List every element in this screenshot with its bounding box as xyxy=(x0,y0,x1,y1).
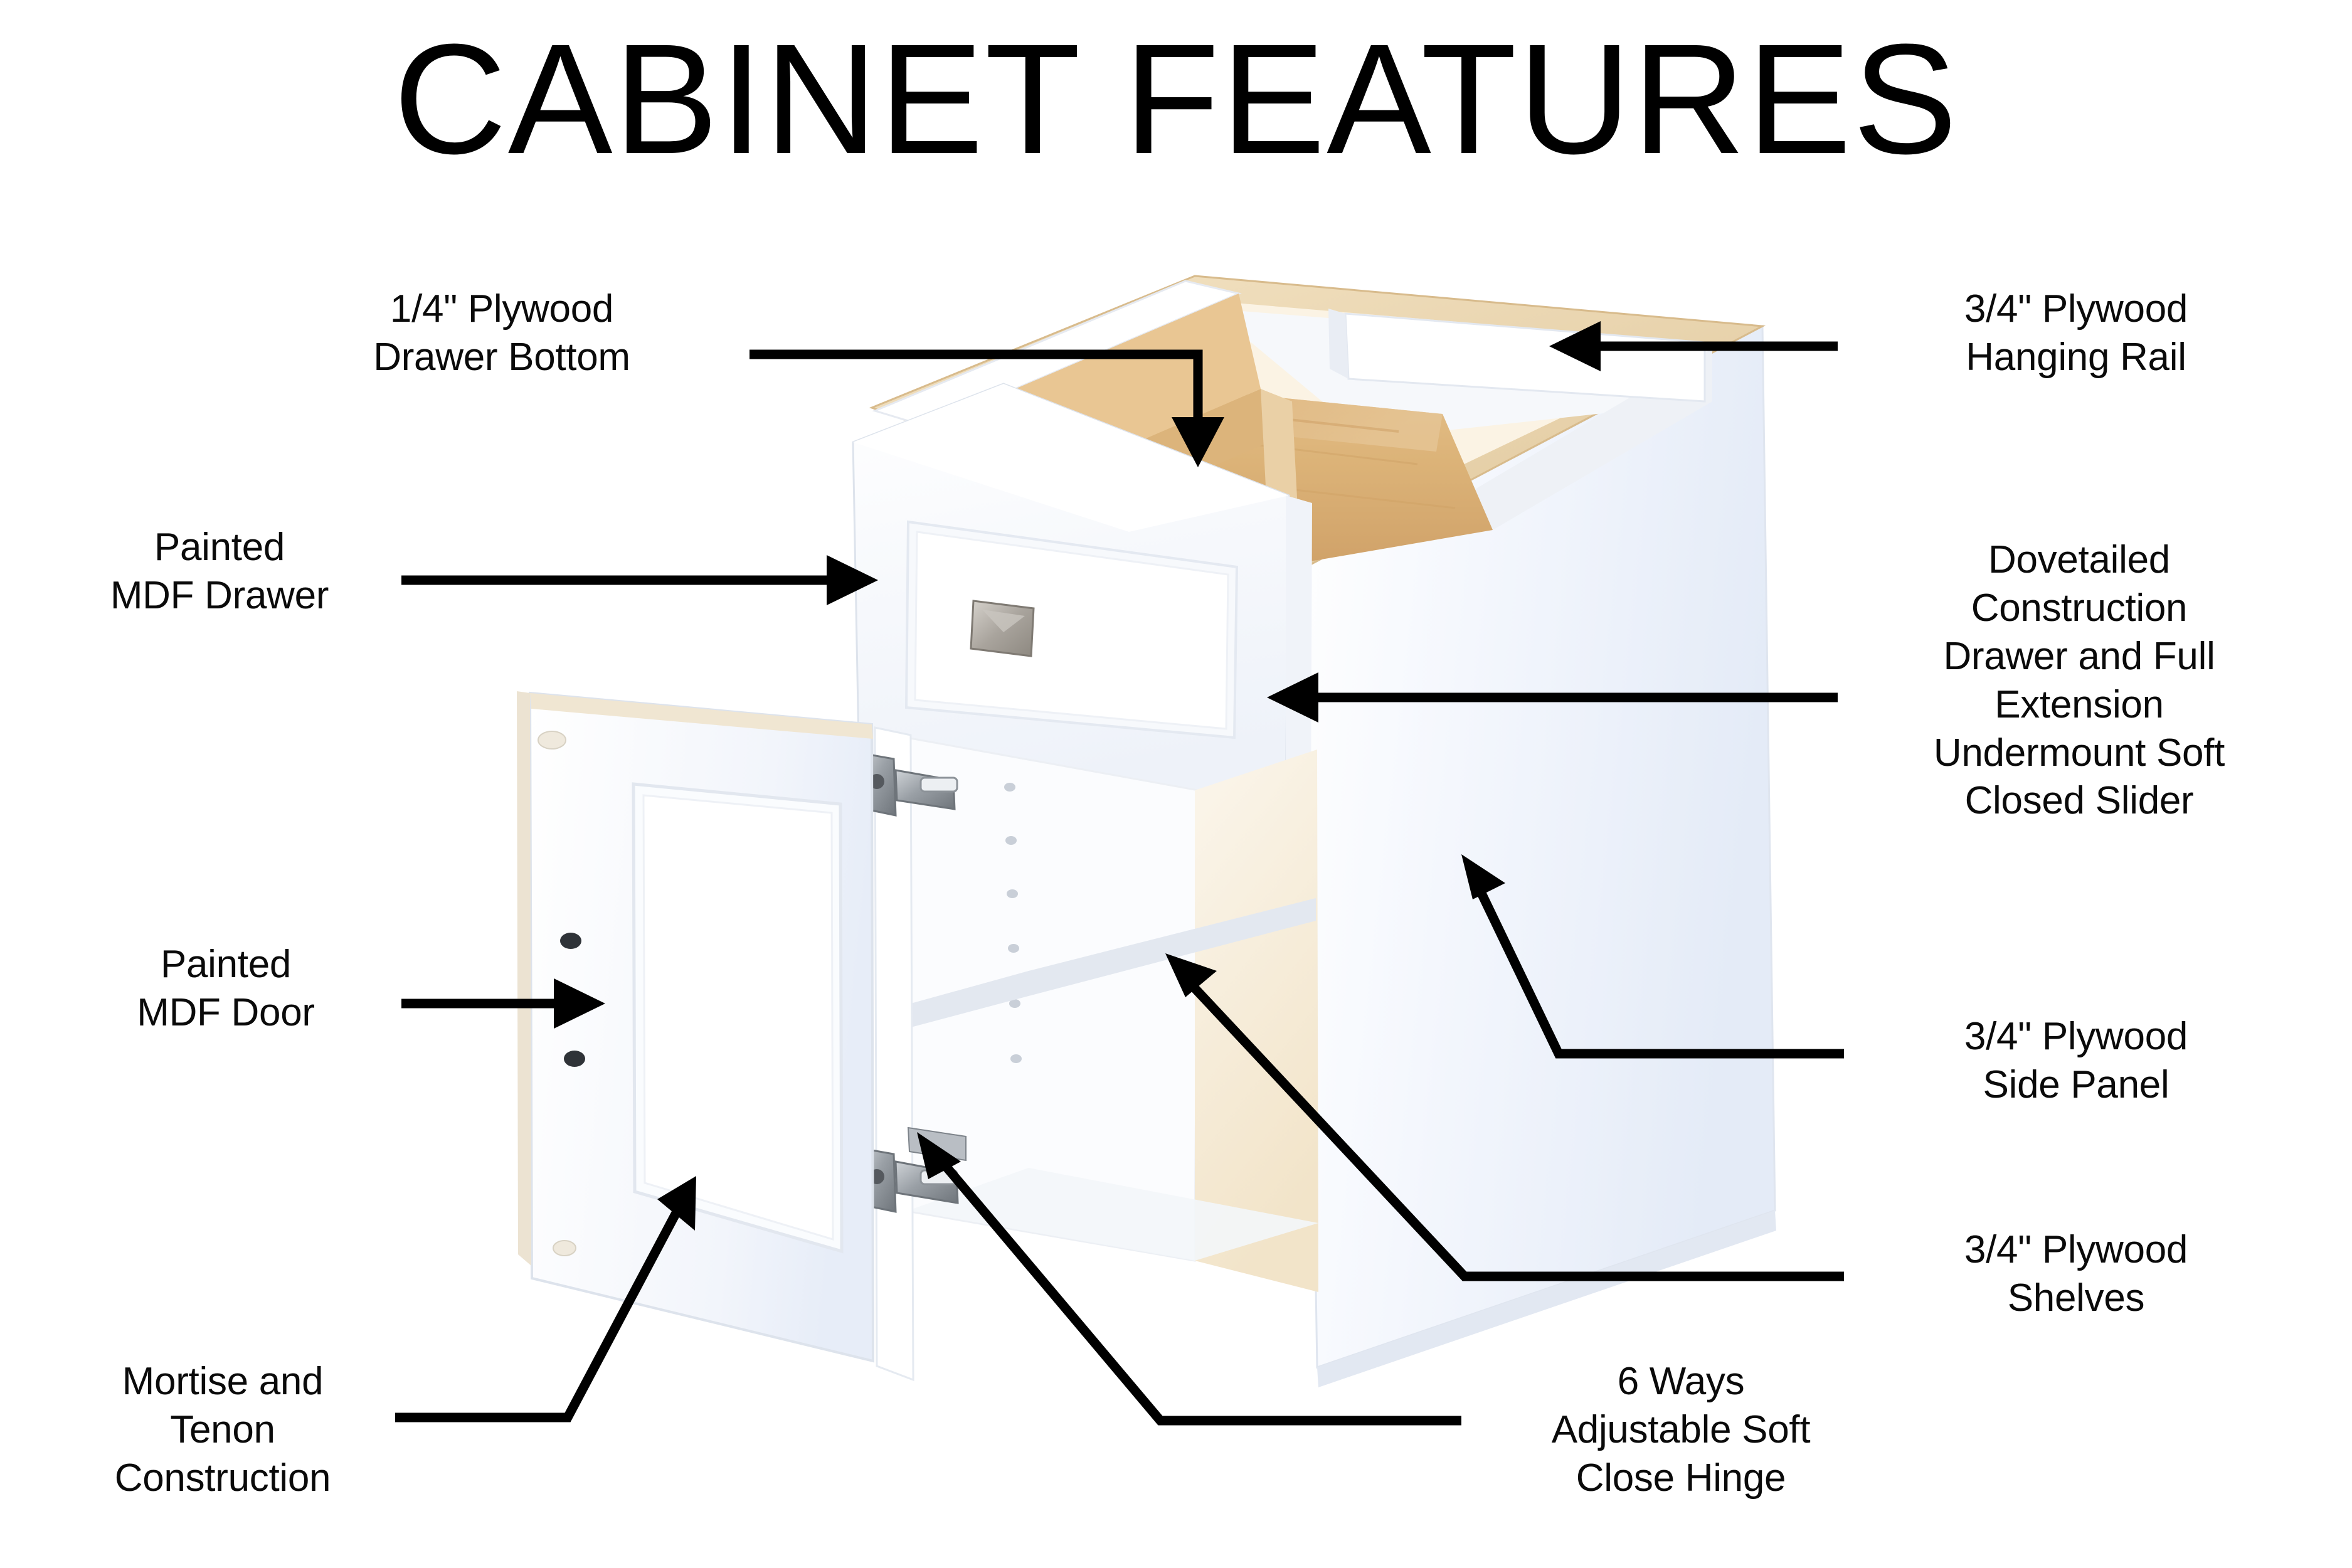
cabinet-front-stile xyxy=(875,728,913,1380)
callout-plywood-side-panel: 3/4" Plywood Side Panel xyxy=(1857,1013,2296,1110)
callout-painted-mdf-drawer: Painted MDF Drawer xyxy=(38,524,401,620)
cabinet-interior-lower xyxy=(903,737,1318,1292)
callout-mortise-and-tenon-construction: Mortise and Tenon Construction xyxy=(38,1358,408,1503)
painted-mdf-door xyxy=(517,691,873,1361)
callout-painted-mdf-door: Painted MDF Door xyxy=(44,941,408,1037)
callout-plywood-drawer-bottom: 1/4" Plywood Drawer Bottom xyxy=(276,285,728,382)
callout-plywood-shelves: 3/4" Plywood Shelves xyxy=(1857,1226,2296,1323)
callout-plywood-hanging-rail: 3/4" Plywood Hanging Rail xyxy=(1850,285,2302,382)
poster-canvas: CABINET FEATURES xyxy=(0,0,2352,1568)
drawer-knob xyxy=(971,601,1034,656)
callout-dovetailed-construction-slider: Dovetailed Construction Drawer and Full … xyxy=(1847,536,2311,825)
callout-six-way-adjustable-soft-close-hinge: 6 Ways Adjustable Soft Close Hinge xyxy=(1468,1358,1894,1503)
